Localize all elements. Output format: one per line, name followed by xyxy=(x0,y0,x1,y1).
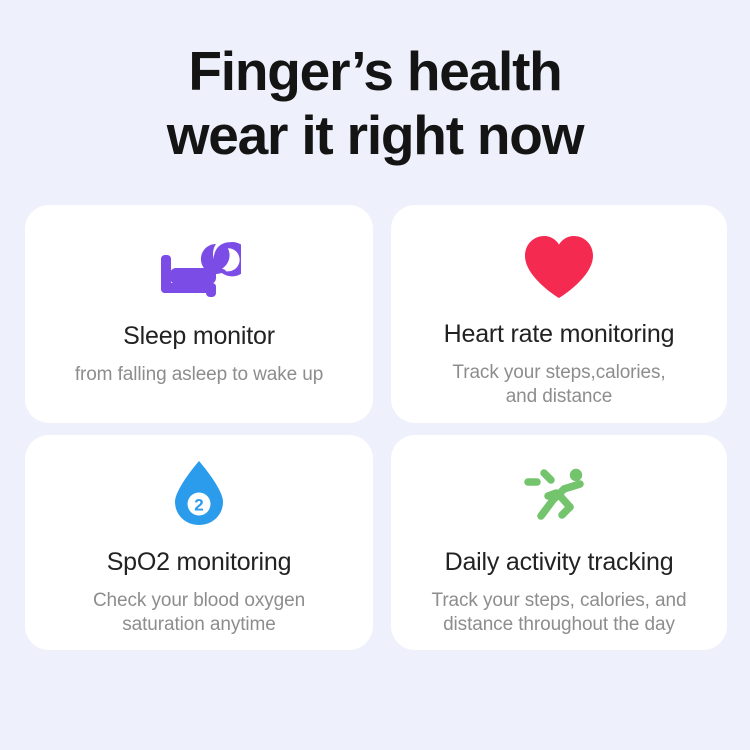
feature-card-subtitle-line-1: Check your blood oxygen xyxy=(93,590,305,611)
feature-card-subtitle-line-1: Track your steps,calories, xyxy=(452,362,665,383)
feature-card-subtitle-line-2: and distance xyxy=(506,386,613,407)
feature-card-subtitle: Track your steps,calories, and distance xyxy=(430,361,687,410)
page-title-line-2: wear it right now xyxy=(0,104,750,168)
feature-card-daily-activity-tracking[interactable]: Daily activity tracking Track your steps… xyxy=(391,435,727,650)
feature-card-title: Heart rate monitoring xyxy=(444,321,675,349)
feature-card-subtitle-line-2: saturation anytime xyxy=(122,614,275,635)
feature-card-subtitle-line-2: distance throughout the day xyxy=(443,614,675,635)
feature-card-heart-rate-monitoring[interactable]: Heart rate monitoring Track your steps,c… xyxy=(391,205,727,423)
promo-banner: Finger’s health wear it right now xyxy=(0,0,750,750)
feature-card-sleep-monitor[interactable]: Sleep monitor from falling asleep to wak… xyxy=(25,205,373,423)
heart-icon xyxy=(523,219,595,315)
running-person-icon xyxy=(522,447,596,543)
page-title-line-1: Finger’s health xyxy=(0,40,750,104)
feature-card-spo2-monitoring[interactable]: 2 SpO2 monitoring Check your blood oxyge… xyxy=(25,435,373,650)
water-drop-o2-icon: 2 xyxy=(171,445,227,541)
feature-card-grid: Sleep monitor from falling asleep to wak… xyxy=(25,205,727,650)
water-drop-badge-label: 2 xyxy=(194,496,203,515)
feature-card-title: Daily activity tracking xyxy=(445,549,674,577)
feature-card-subtitle: Track your steps, calories, and distance… xyxy=(410,589,709,638)
feature-card-title: Sleep monitor xyxy=(123,323,275,351)
bed-moon-icon xyxy=(157,221,241,317)
feature-card-subtitle-line-1: Track your steps, calories, and xyxy=(432,590,687,611)
feature-card-subtitle: Check your blood oxygen saturation anyti… xyxy=(71,589,327,638)
feature-card-title: SpO2 monitoring xyxy=(107,549,292,577)
feature-card-subtitle: from falling asleep to wake up xyxy=(53,363,345,387)
page-title: Finger’s health wear it right now xyxy=(0,40,750,168)
